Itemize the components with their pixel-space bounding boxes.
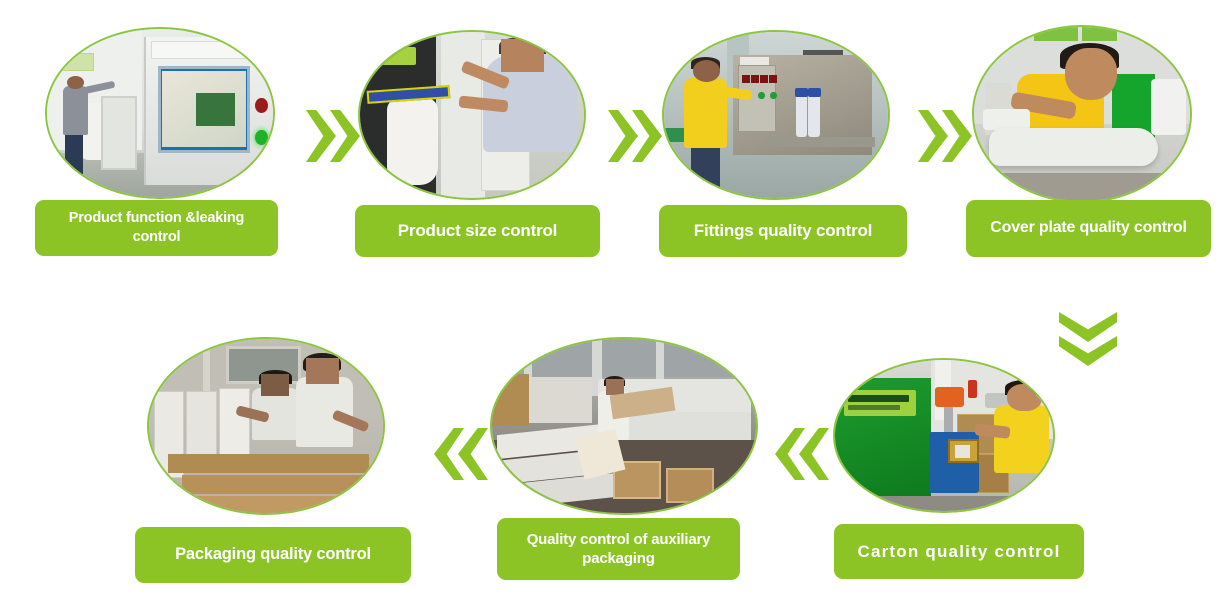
scene-packaging-line	[149, 339, 383, 513]
step-photo-packaging-quality	[147, 337, 385, 515]
step-photo-cover-plate-quality	[972, 25, 1192, 203]
step-photo-auxiliary-packaging	[490, 337, 758, 515]
chevron-left-icon	[799, 428, 829, 480]
scene-carton-compression-tester	[835, 360, 1053, 511]
scene-auxiliary-packaging-warehouse	[492, 339, 756, 513]
scene-size-measurement	[360, 32, 584, 198]
scene-cover-plate-inspection	[974, 27, 1190, 201]
chevron-left-icon	[458, 428, 488, 480]
scene-fittings-test-bench	[664, 32, 888, 198]
step-photo-carton-quality	[833, 358, 1055, 513]
step-label-product-function-leaking[interactable]: Product function &leaking control	[35, 200, 278, 256]
chevron-down-icon	[1059, 312, 1117, 342]
chevron-right-icon	[306, 110, 336, 162]
scene-leak-test-machine	[47, 29, 273, 197]
connector-step2-step3	[608, 110, 662, 162]
connector-step4-step5	[1059, 312, 1117, 366]
step-photo-fittings-quality	[662, 30, 890, 200]
connector-step1-step2	[306, 110, 360, 162]
connector-step3-step4	[918, 110, 972, 162]
chevron-right-icon	[918, 110, 948, 162]
chevron-right-icon	[608, 110, 638, 162]
connector-step6-step7	[434, 428, 488, 480]
step-photo-product-size	[358, 30, 586, 200]
connector-step5-step6	[775, 428, 829, 480]
step-label-carton-quality[interactable]: Carton quality control	[834, 524, 1084, 579]
step-label-cover-plate-quality[interactable]: Cover plate quality control	[966, 200, 1211, 257]
step-photo-product-function-leaking	[45, 27, 275, 199]
step-label-product-size[interactable]: Product size control	[355, 205, 600, 257]
step-label-auxiliary-packaging[interactable]: Quality control of auxiliary packaging	[497, 518, 740, 580]
step-label-packaging-quality[interactable]: Packaging quality control	[135, 527, 411, 583]
quality-control-flow-diagram: Product function &leaking control Produc…	[0, 0, 1220, 595]
step-label-fittings-quality[interactable]: Fittings quality control	[659, 205, 907, 257]
